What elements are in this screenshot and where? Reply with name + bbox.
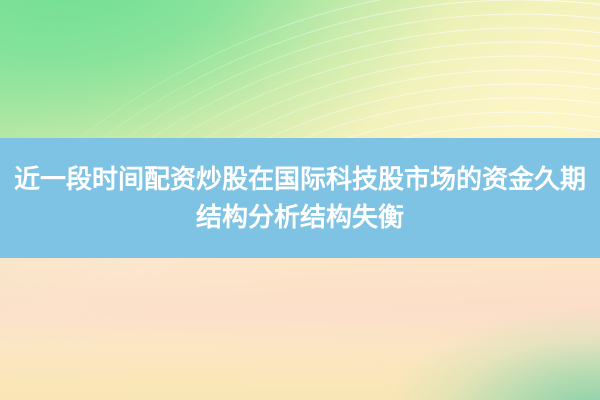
banner-image: 近一段时间配资炒股在国际科技股市场的资金久期 结构分析结构失衡 xyxy=(0,0,600,400)
headline-line-1: 近一段时间配资炒股在国际科技股市场的资金久期 xyxy=(14,160,586,198)
headline-line-2: 结构分析结构失衡 xyxy=(196,198,404,236)
background-yellow-bottom-band xyxy=(0,312,600,400)
headline-strip: 近一段时间配资炒股在国际科技股市场的资金久期 结构分析结构失衡 xyxy=(0,138,600,258)
